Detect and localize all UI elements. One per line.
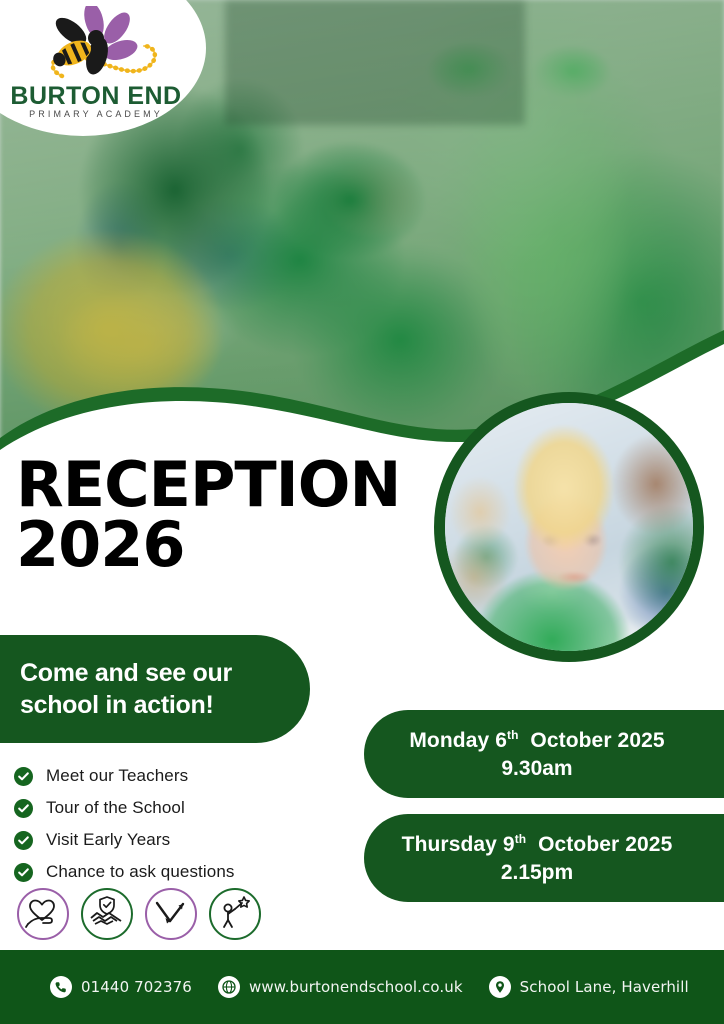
handshake-shield-icon (81, 888, 133, 940)
list-item-label: Chance to ask questions (46, 862, 234, 882)
poster-root: BURTON END PRIMARY ACADEMY RECEPTION 202… (0, 0, 724, 1024)
open-day-time-2: 2.15pm (501, 861, 607, 885)
check-circle-icon (14, 767, 33, 786)
open-day-date-1: Monday 6th October 2025 (409, 728, 698, 753)
heart-in-hand-icon (17, 888, 69, 940)
contact-phone[interactable]: 01440 702376 (50, 976, 192, 998)
open-day-time-1: 9.30am (501, 757, 606, 781)
arrows-resilience-icon (145, 888, 197, 940)
open-day-ordinal-1: th (507, 728, 519, 742)
check-circle-icon (14, 799, 33, 818)
list-item-label: Meet our Teachers (46, 766, 188, 786)
open-day-day-1: Monday 6 (409, 729, 507, 752)
contact-website[interactable]: www.burtonendschool.co.uk (218, 976, 463, 998)
list-item: Chance to ask questions (14, 856, 344, 888)
benefits-list: Meet our Teachers Tour of the School Vis… (14, 760, 344, 888)
page-title: RECEPTION 2026 (16, 455, 416, 575)
invitation-banner-text: Come and see our school in action! (20, 657, 232, 721)
phone-icon (50, 976, 72, 998)
open-day-month-1: October 2025 (530, 729, 664, 752)
banner-line-2: school in action! (20, 689, 232, 721)
open-day-month-2: October 2025 (538, 833, 672, 856)
open-day-card-1: Monday 6th October 2025 9.30am (364, 710, 724, 798)
list-item: Tour of the School (14, 792, 344, 824)
contact-address[interactable]: School Lane, Haverhill (489, 976, 689, 998)
person-star-icon (209, 888, 261, 940)
globe-icon (218, 976, 240, 998)
school-values-icons (17, 888, 261, 940)
invitation-banner: Come and see our school in action! (0, 635, 310, 743)
open-day-date-2: Thursday 9th October 2025 (402, 832, 707, 857)
check-circle-icon (14, 863, 33, 882)
list-item-label: Tour of the School (46, 798, 185, 818)
contact-phone-text: 01440 702376 (81, 978, 192, 996)
list-item: Meet our Teachers (14, 760, 344, 792)
check-circle-icon (14, 831, 33, 850)
open-day-ordinal-2: th (515, 832, 527, 846)
contact-website-text: www.burtonendschool.co.uk (249, 978, 463, 996)
contact-footer: 01440 702376 www.burtonendschool.co.uk (0, 950, 724, 1024)
headline-line-1: RECEPTION (16, 455, 416, 515)
logo-school-subtitle: PRIMARY ACADEMY (8, 110, 184, 119)
headline-line-2: 2026 (16, 515, 416, 575)
open-day-day-2: Thursday 9 (402, 833, 515, 856)
contact-address-text: School Lane, Haverhill (520, 978, 689, 996)
student-photo-image (434, 392, 704, 662)
school-logo: BURTON END PRIMARY ACADEMY (8, 6, 184, 126)
list-item: Visit Early Years (14, 824, 344, 856)
student-circle-photo (434, 392, 704, 662)
list-item-label: Visit Early Years (46, 830, 170, 850)
logo-school-name: BURTON END (8, 84, 184, 109)
banner-line-1: Come and see our (20, 657, 232, 689)
location-pin-icon (489, 976, 511, 998)
open-day-card-2: Thursday 9th October 2025 2.15pm (364, 814, 724, 902)
bee-flower-logo-icon (24, 6, 172, 84)
